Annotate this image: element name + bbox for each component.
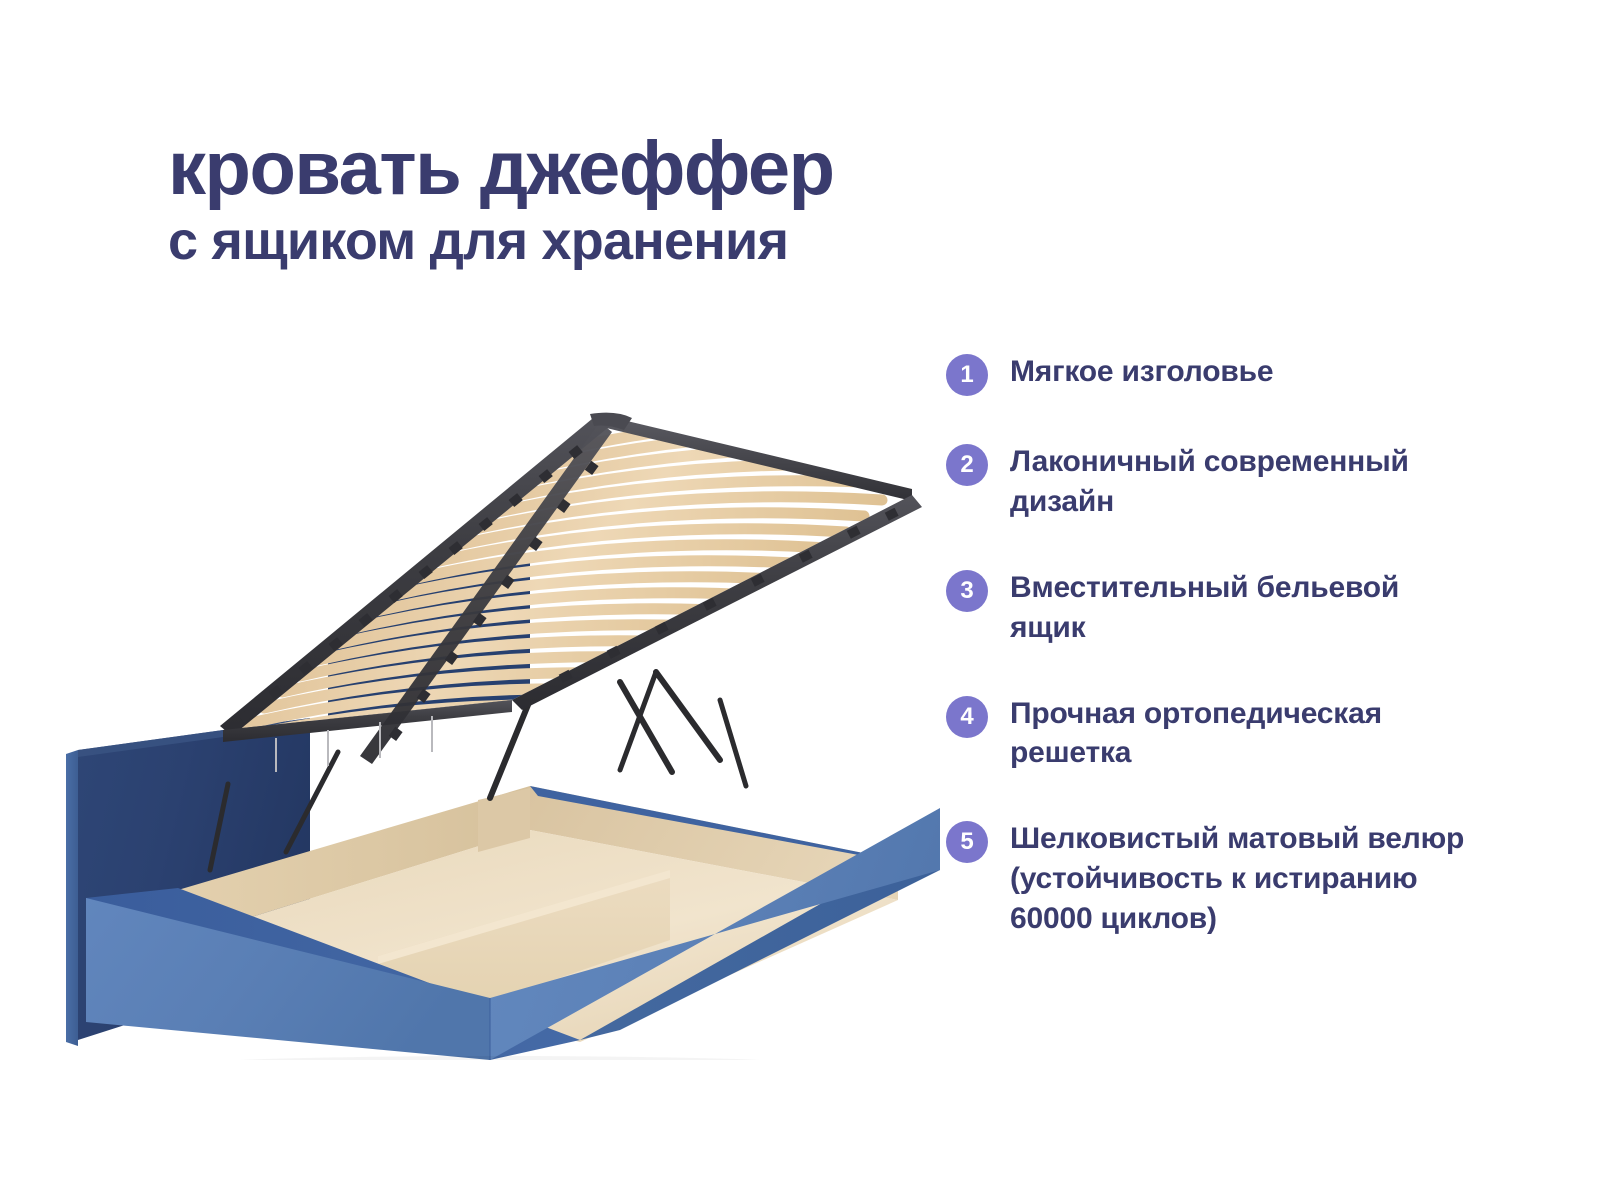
feature-badge-5: 5 [946, 821, 988, 863]
feature-badge-3: 3 [946, 570, 988, 612]
feature-item-1: 1 Мягкое изголовье [946, 352, 1466, 396]
feature-item-5: 5 Шелковистый матовый велюр (устойчивост… [946, 819, 1466, 939]
page-subtitle: с ящиком для хранения [168, 214, 1168, 269]
feature-badge-4: 4 [946, 696, 988, 738]
feature-item-3: 3 Вместительный бельевой ящик [946, 568, 1466, 648]
feature-badge-2: 2 [946, 444, 988, 486]
product-image-bed [60, 400, 960, 1060]
feature-text-4: Прочная ортопедическая решетка [1010, 694, 1466, 774]
feature-text-1: Мягкое изголовье [1010, 352, 1273, 392]
feature-badge-1: 1 [946, 354, 988, 396]
feature-list: 1 Мягкое изголовье 2 Лаконичный современ… [946, 352, 1466, 985]
feature-text-2: Лаконичный современный дизайн [1010, 442, 1466, 522]
feature-item-2: 2 Лаконичный современный дизайн [946, 442, 1466, 522]
feature-text-5: Шелковистый матовый велюр (устойчивость … [1010, 819, 1466, 939]
heading-block: кровать джеффер с ящиком для хранения [168, 132, 1168, 270]
page-title: кровать джеффер [168, 132, 1168, 206]
feature-item-4: 4 Прочная ортопедическая решетка [946, 694, 1466, 774]
feature-text-3: Вместительный бельевой ящик [1010, 568, 1466, 648]
